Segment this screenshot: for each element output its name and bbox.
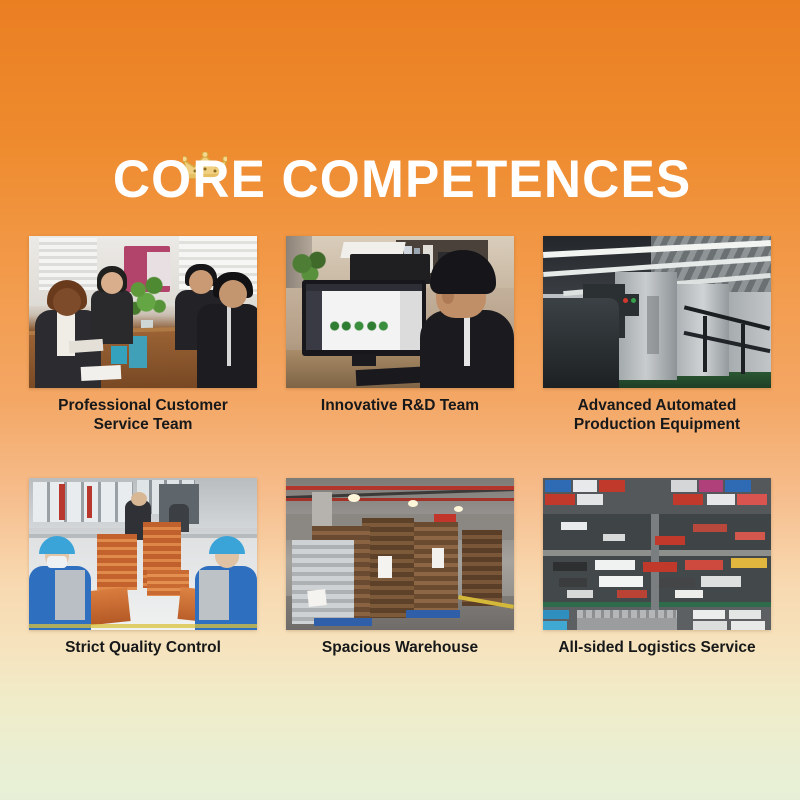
ceiling-lamp-3 — [454, 506, 463, 512]
warehouse-building-roof — [577, 610, 677, 618]
container-14 — [693, 610, 725, 619]
blue-box-small — [111, 346, 127, 364]
vehicle-11 — [559, 578, 587, 587]
blue-pallet-1 — [406, 610, 460, 618]
photo-quality-inspection — [29, 478, 257, 630]
monitor-stand — [352, 354, 376, 366]
container-12 — [543, 610, 569, 619]
container-2 — [573, 480, 597, 492]
software-side-panel — [400, 291, 422, 350]
vehicle-17 — [675, 590, 703, 598]
competence-card-2[interactable]: Innovative R&D Team — [286, 236, 514, 434]
container-5 — [577, 494, 603, 505]
vehicle-9 — [685, 560, 723, 570]
vehicle-14 — [701, 576, 741, 587]
ceiling-lamp-2 — [408, 500, 418, 507]
vehicle-8 — [643, 562, 677, 572]
press-delivery-unit — [543, 298, 619, 388]
container-3 — [599, 480, 625, 492]
woman-left-head — [53, 288, 81, 316]
container-11 — [737, 494, 767, 505]
photo-meeting-room — [29, 236, 257, 388]
vehicle-3 — [655, 536, 685, 545]
floor-safety-line — [29, 624, 257, 628]
competence-card-3[interactable]: Advanced Automated Production Equipment — [543, 236, 771, 434]
container-6 — [671, 480, 697, 492]
woman-back-body — [91, 290, 133, 344]
notebook — [69, 339, 104, 353]
paper-sheet — [81, 365, 122, 381]
caption-3: Advanced Automated Production Equipment — [543, 396, 771, 434]
caption-2: Innovative R&D Team — [286, 396, 514, 415]
container-7 — [699, 480, 723, 492]
rail-post-2 — [741, 324, 745, 374]
ceiling-lamp-1 — [348, 494, 360, 502]
control-red-button — [623, 298, 628, 303]
caption-1: Professional Customer Service Team — [29, 396, 257, 434]
container-9 — [673, 494, 703, 505]
container-17 — [731, 621, 765, 630]
caption-5: Spacious Warehouse — [286, 638, 514, 657]
competence-card-1[interactable]: Professional Customer Service Team — [29, 236, 257, 434]
photo-warehouse — [286, 478, 514, 630]
pallet-label-3 — [307, 589, 327, 607]
competence-card-5[interactable]: Spacious Warehouse — [286, 478, 514, 657]
pallet-label-2 — [432, 548, 444, 568]
grid-row-1: Professional Customer Service Team — [29, 236, 771, 434]
vehicle-4 — [693, 524, 727, 532]
vehicle-13 — [659, 578, 695, 588]
page-title: CORE COMPETENCES — [109, 152, 691, 208]
pallet-label-1 — [378, 556, 392, 578]
pallet-stack-4 — [412, 522, 458, 614]
vehicle-2 — [603, 534, 625, 541]
container-10 — [707, 494, 735, 505]
office-plant — [290, 250, 330, 284]
photo-printing-press — [543, 236, 771, 388]
container-1 — [545, 480, 571, 492]
grid-row-2: Strict Quality Control — [29, 478, 771, 657]
caption-6: All-sided Logistics Service — [543, 638, 771, 657]
inspector-right-apron — [199, 570, 229, 620]
vehicle-15 — [567, 590, 593, 598]
man-near-head — [219, 280, 247, 308]
caption-4: Strict Quality Control — [29, 638, 257, 657]
vehicle-7 — [595, 560, 635, 570]
software-icons — [330, 320, 388, 332]
software-tool-panel — [306, 291, 322, 350]
man-far-head — [189, 270, 213, 294]
woman-back-head — [101, 272, 123, 294]
press-label — [647, 296, 659, 354]
inspector-left-apron — [55, 570, 85, 620]
inspector-left-mask — [47, 556, 67, 568]
competences-grid: Professional Customer Service Team — [29, 236, 771, 657]
vehicle-1 — [561, 522, 587, 530]
pallet-stack-5 — [462, 530, 502, 606]
man-near-stripe — [227, 306, 231, 366]
pallet-stack-1 — [292, 540, 354, 624]
vehicle-16 — [617, 590, 647, 598]
container-15 — [729, 610, 761, 619]
photo-logistics-aerial — [543, 478, 771, 630]
box-stack-center — [97, 534, 137, 590]
vehicle-6 — [553, 562, 587, 571]
core-competences-poster: CORE COMPETENCES — [0, 0, 800, 800]
warehouse-red-sign — [434, 514, 456, 522]
blue-pallet-2 — [314, 618, 372, 626]
workshop-windows-left — [33, 482, 133, 522]
vehicle-10 — [731, 558, 767, 568]
container-13 — [543, 621, 567, 630]
container-8 — [725, 480, 751, 492]
press-control-panel — [619, 294, 639, 316]
background-worker-1-head — [131, 492, 147, 506]
vehicle-12 — [599, 576, 643, 587]
container-4 — [545, 494, 575, 505]
press-unit-3 — [729, 292, 771, 372]
control-green-button — [631, 298, 636, 303]
competence-card-6[interactable]: All-sided Logistics Service — [543, 478, 771, 657]
red-column-2 — [87, 486, 92, 518]
software-toolbar — [306, 284, 422, 291]
title-block: CORE COMPETENCES — [0, 152, 800, 208]
container-16 — [693, 621, 727, 630]
designer-collar — [464, 314, 470, 366]
competence-card-4[interactable]: Strict Quality Control — [29, 478, 257, 657]
rail-post-1 — [703, 316, 707, 372]
red-column-1 — [59, 484, 65, 520]
vehicle-5 — [735, 532, 765, 540]
red-sprinkler-pipe-1 — [286, 486, 514, 490]
photo-designer-workstation — [286, 236, 514, 388]
